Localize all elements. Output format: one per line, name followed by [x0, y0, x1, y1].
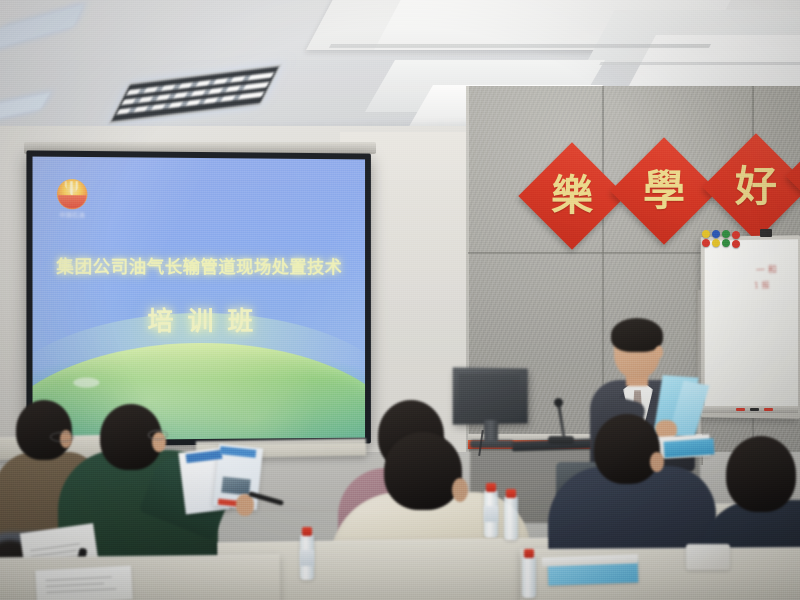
- whiteboard-surface: 一 和 1 报: [705, 239, 798, 408]
- magnet: [722, 239, 730, 247]
- document-stack: [35, 566, 133, 600]
- attendee-ear: [650, 452, 664, 472]
- microphone-head: [554, 398, 563, 407]
- magnet: [712, 239, 720, 247]
- petrochina-logo: 中国石油: [55, 179, 89, 222]
- recessed-grille-light: [108, 64, 282, 124]
- monitor-base: [470, 440, 514, 448]
- recessed-light: [0, 4, 83, 49]
- whiteboard-note: 1 报: [754, 279, 770, 291]
- bottle-cap: [486, 483, 496, 492]
- banner-character: 學: [626, 153, 702, 229]
- attendee-ear: [452, 478, 468, 502]
- cup: [686, 544, 730, 570]
- whiteboard-note: 一 和: [756, 265, 777, 277]
- ceiling-edge: [329, 44, 711, 48]
- banner-character: [790, 149, 800, 225]
- banner-character: 樂: [534, 158, 610, 234]
- ceiling-edge: [599, 62, 800, 65]
- marker: [764, 408, 773, 411]
- eyeglasses: [148, 430, 168, 440]
- attendee-head: [384, 432, 462, 510]
- magnet-group: [702, 230, 758, 248]
- bottle-cap: [302, 527, 312, 536]
- whiteboard-clip: [760, 229, 772, 237]
- magnet: [722, 230, 730, 238]
- projection-screen: 中国石油 集团公司油气长输管道现场处置技术 培训班: [26, 150, 371, 446]
- water-bottle: [522, 556, 536, 598]
- wall-banner-diamond: 學: [610, 137, 717, 244]
- magnet: [712, 230, 720, 238]
- slide-title: 集团公司油气长输管道现场处置技术: [33, 254, 366, 280]
- eyeglasses: [50, 432, 74, 442]
- microphone-base: [548, 436, 574, 444]
- brochure-image: [221, 477, 251, 496]
- slide-subtitle: 培训班: [33, 301, 366, 338]
- water-bottle: [504, 496, 518, 540]
- magnet: [702, 230, 710, 238]
- bottle-cap: [506, 489, 516, 498]
- banner-character: 好: [718, 149, 794, 225]
- marker: [736, 408, 745, 411]
- bottle-label: [300, 550, 314, 566]
- attendee-head: [594, 414, 660, 484]
- bottle-cap: [524, 549, 534, 558]
- presentation-slide: 中国石油 集团公司油气长输管道现场处置技术 培训班: [33, 157, 366, 441]
- whiteboard: 一 和 1 报: [701, 235, 800, 419]
- lcd-monitor-back: [459, 374, 521, 419]
- magnet: [702, 239, 710, 247]
- wall-banner-diamond: 樂: [518, 142, 625, 249]
- attendee-head: [726, 436, 796, 512]
- logo-caption: 中国石油: [55, 210, 89, 219]
- marker: [750, 408, 759, 411]
- attendee-hand: [236, 494, 254, 516]
- magnet: [732, 240, 740, 248]
- recessed-light: [0, 93, 50, 122]
- magnet: [732, 231, 740, 239]
- bottle-label: [484, 506, 498, 522]
- conference-room-photo: 樂 學 好 中国石油 集团公司油气长输管道现场处置技术 培训班 一: [0, 0, 800, 600]
- presenter-ear: [655, 346, 663, 358]
